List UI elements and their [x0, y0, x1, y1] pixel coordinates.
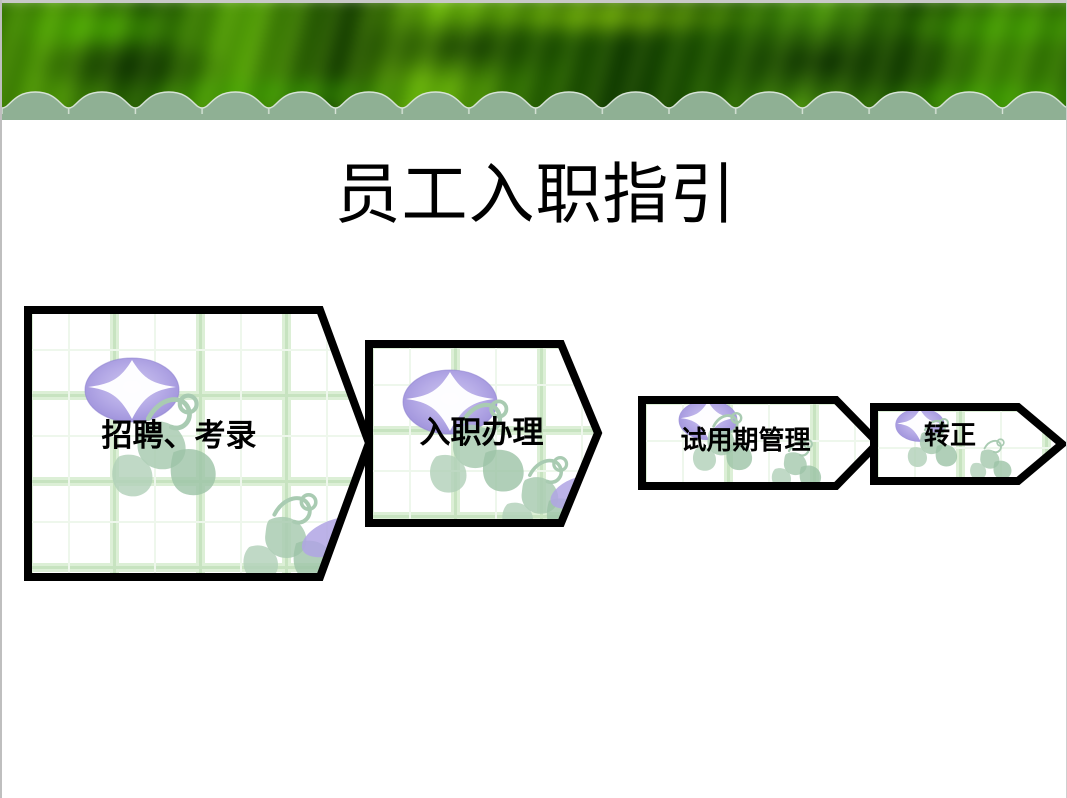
- process-step-4-shape[interactable]: [870, 403, 1067, 489]
- scallop-strip: [2, 88, 1067, 120]
- header-top-divider: [2, 0, 1067, 3]
- process-step-3-shape[interactable]: [638, 396, 886, 494]
- slide-canvas: 员工入职指引: [0, 0, 1067, 798]
- process-step-2-shape[interactable]: [365, 340, 605, 532]
- header-banner: [2, 0, 1067, 120]
- page-title: 员工入职指引: [2, 155, 1067, 235]
- process-step-1-shape[interactable]: [24, 305, 374, 585]
